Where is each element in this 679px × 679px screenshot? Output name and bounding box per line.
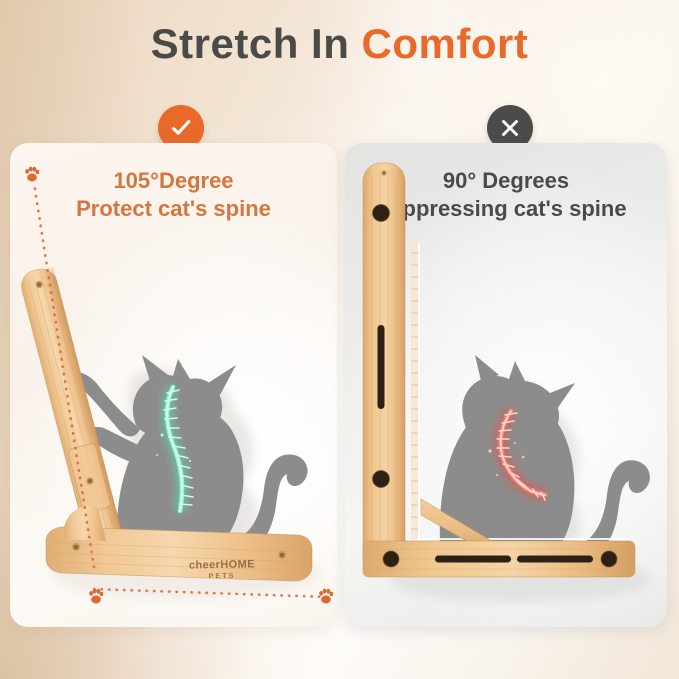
check-icon (168, 115, 194, 141)
scene-good-svg (10, 143, 337, 627)
paw-print-icon (319, 589, 333, 604)
page-title-part2: Comfort (362, 20, 529, 67)
scene-bad (345, 143, 667, 627)
panel-bad: 90° Degrees Oppressing cat's spine (345, 143, 667, 627)
panel-good: 105°Degree Protect cat's spine (10, 143, 337, 627)
scene-good (10, 143, 337, 627)
page-title-part1: Stretch In (151, 20, 350, 67)
cross-icon (498, 116, 522, 140)
infographic-root: Stretch In Comfort 105°Degree Protect ca… (0, 0, 679, 679)
scene-bad-svg (345, 143, 667, 627)
paw-print-icon (25, 167, 39, 182)
page-title: Stretch In Comfort (0, 20, 679, 68)
